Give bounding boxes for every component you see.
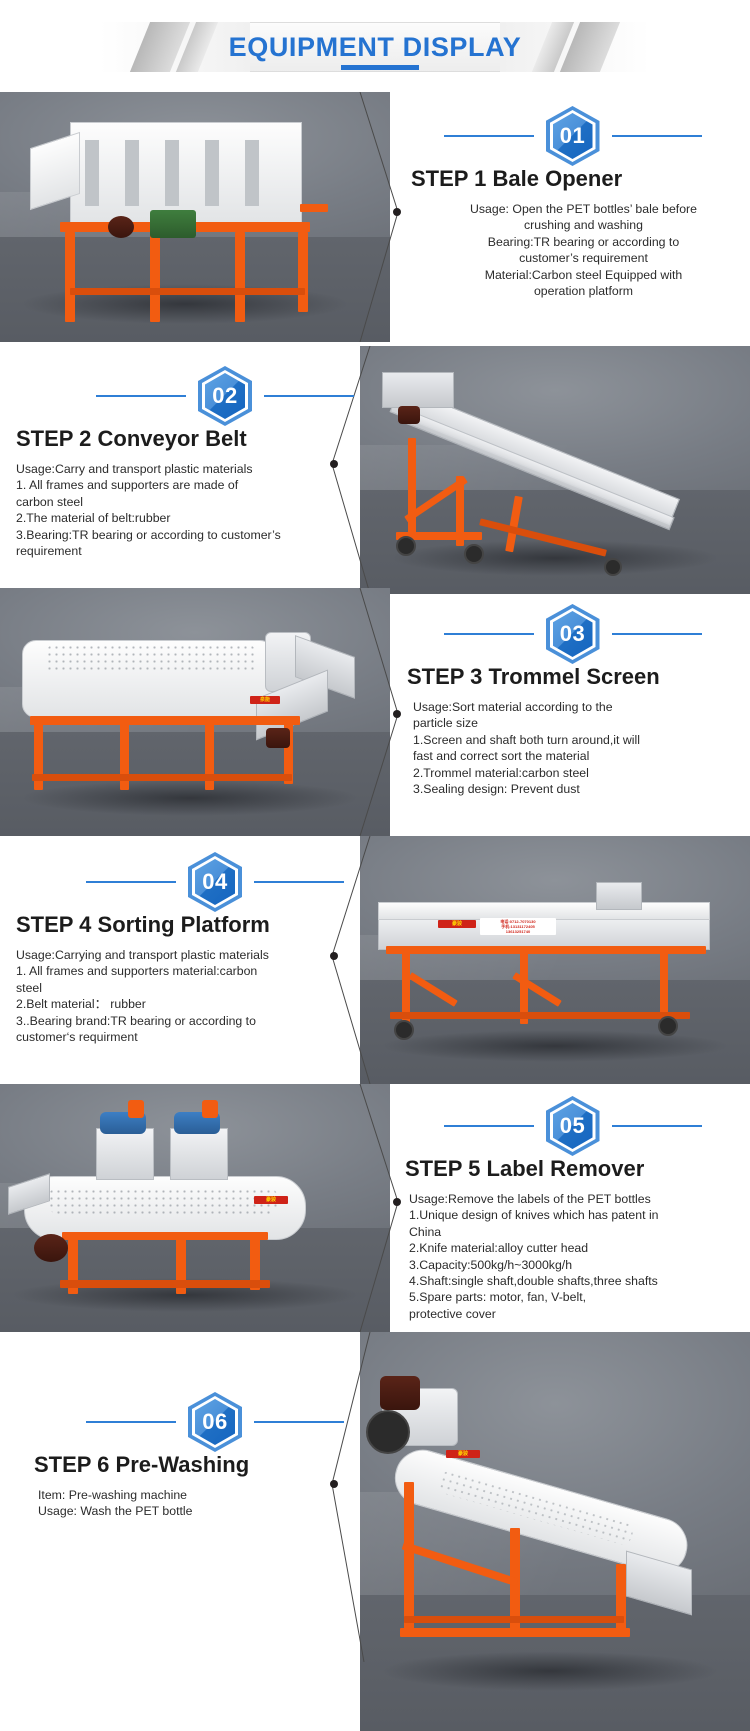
step-3-title: STEP 3 Trommel Screen (395, 664, 750, 690)
step-4-body: Usage:Carrying and transport plastic mat… (8, 947, 363, 1045)
step-6-panel: 06 STEP 6 Pre-Washing Item: Pre-washing … (8, 1394, 363, 1520)
step-5-badge: 05 (395, 1098, 750, 1154)
step-row-6: 豪骏 06 STEP 6 Pre-Washing Item: Pre-washi… (0, 1332, 750, 1731)
step-6-number: 06 (188, 1392, 242, 1452)
badge-dash-right (612, 135, 702, 137)
step-6-badge: 06 (8, 1394, 363, 1450)
badge-dash-right (264, 395, 354, 397)
step-2-badge: 02 (8, 368, 363, 424)
step-5-title: STEP 5 Label Remover (395, 1156, 750, 1182)
step-6-title: STEP 6 Pre-Washing (8, 1452, 363, 1478)
step-row-5: 豪骏 05 STEP 5 Label Remover Usage:Remove … (0, 1084, 750, 1332)
step-1-body: Usage: Open the PET bottles’ bale before… (395, 201, 750, 299)
step-5-image: 豪骏 (0, 1084, 390, 1332)
step-4-panel: 04 STEP 4 Sorting Platform Usage:Carryin… (8, 854, 363, 1045)
step-5-body: Usage:Remove the labels of the PET bottl… (395, 1191, 750, 1322)
badge-dash-left (96, 395, 186, 397)
step-2-image (360, 346, 750, 594)
hexagon-icon: 05 (546, 1096, 600, 1156)
step-3-body: Usage:Sort material according to the par… (395, 699, 750, 797)
step-3-badge: 03 (395, 606, 750, 662)
step-2-number: 02 (198, 366, 252, 426)
step-5-number: 05 (546, 1096, 600, 1156)
step-6-image: 豪骏 (360, 1332, 750, 1731)
step-4-badge: 04 (8, 854, 363, 910)
step-1-title: STEP 1 Bale Opener (395, 166, 750, 192)
step-3-panel: 03 STEP 3 Trommel Screen Usage:Sort mate… (395, 606, 750, 797)
badge-dash-right (254, 1421, 344, 1423)
hexagon-icon: 03 (546, 604, 600, 664)
title-underline (341, 65, 419, 70)
badge-dash-left (444, 633, 534, 635)
step-1-image (0, 92, 390, 342)
step-row-1: 01 STEP 1 Bale Opener Usage: Open the PE… (0, 92, 750, 342)
step-2-body: Usage:Carry and transport plastic materi… (8, 461, 363, 559)
step-2-title: STEP 2 Conveyor Belt (8, 426, 363, 452)
step-row-4: 豪骏 电话:0712-7070130手机:1313117240513613251… (0, 836, 750, 1084)
badge-dash-left (444, 1125, 534, 1127)
hexagon-icon: 04 (188, 852, 242, 912)
step-5-panel: 05 STEP 5 Label Remover Usage:Remove the… (395, 1098, 750, 1322)
step-4-title: STEP 4 Sorting Platform (8, 912, 363, 938)
badge-dash-left (86, 881, 176, 883)
step-row-3: 泉能 03 STEP 3 Trommel Screen Usage:Sort m… (0, 588, 750, 836)
hexagon-icon: 06 (188, 1392, 242, 1452)
hexagon-icon: 01 (546, 106, 600, 166)
step-1-badge: 01 (395, 108, 750, 164)
step-4-number: 04 (188, 852, 242, 912)
step-6-body: Item: Pre-washing machine Usage: Wash th… (8, 1487, 363, 1520)
step-1-number: 01 (546, 106, 600, 166)
step-row-2: 02 STEP 2 Conveyor Belt Usage:Carry and … (0, 346, 750, 594)
step-4-image: 豪骏 电话:0712-7070130手机:1313117240513613251… (360, 836, 750, 1084)
step-2-panel: 02 STEP 2 Conveyor Belt Usage:Carry and … (8, 368, 363, 559)
badge-dash-right (254, 881, 344, 883)
badge-dash-right (612, 1125, 702, 1127)
badge-dash-left (444, 135, 534, 137)
step-1-panel: 01 STEP 1 Bale Opener Usage: Open the PE… (395, 108, 750, 299)
step-3-number: 03 (546, 604, 600, 664)
equipment-display-page: EQUIPMENT DISPLAY (0, 0, 750, 1731)
hexagon-icon: 02 (198, 366, 252, 426)
step-3-image: 泉能 (0, 588, 390, 836)
badge-dash-right (612, 633, 702, 635)
badge-dash-left (86, 1421, 176, 1423)
